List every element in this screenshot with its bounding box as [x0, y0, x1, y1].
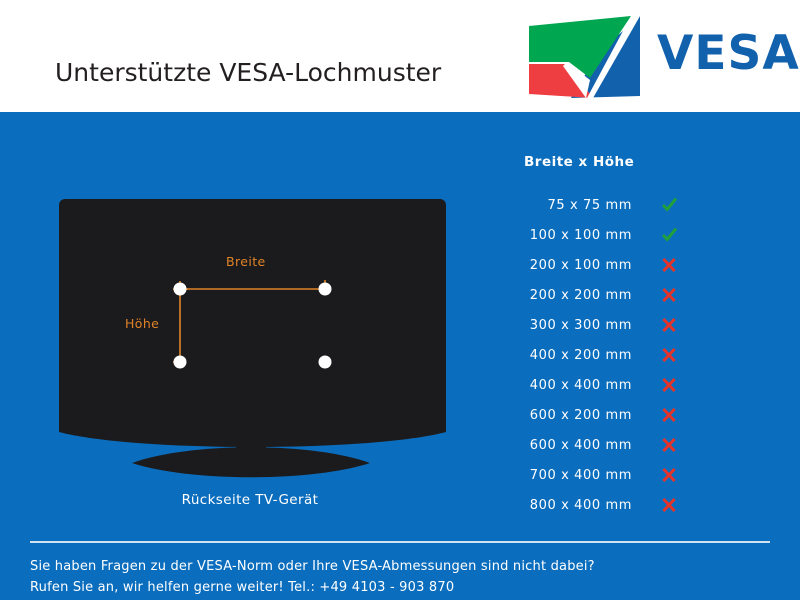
cross-icon — [632, 347, 689, 364]
spec-table-header: Breite x Höhe — [500, 154, 715, 170]
spec-row: 400 x 200 mm — [500, 340, 715, 370]
footer-line-2: Rufen Sie an, wir helfen gerne weiter! T… — [30, 577, 780, 598]
spec-row: 600 x 200 mm — [500, 400, 715, 430]
height-dimension-label: Höhe — [125, 316, 159, 331]
footer-line-1: Sie haben Fragen zu der VESA-Norm oder I… — [30, 556, 780, 577]
vesa-pattern-table: Breite x Höhe 75 x 75 mm100 x 100 mm200 … — [500, 154, 715, 520]
cross-icon — [632, 317, 689, 334]
hole-top-right — [319, 283, 332, 296]
hole-top-left — [174, 283, 187, 296]
spec-size-label: 75 x 75 mm — [500, 198, 632, 213]
spec-row: 200 x 200 mm — [500, 280, 715, 310]
spec-table-rows: 75 x 75 mm100 x 100 mm200 x 100 mm200 x … — [500, 190, 715, 520]
spec-row: 75 x 75 mm — [500, 190, 715, 220]
spec-size-label: 400 x 200 mm — [500, 348, 632, 363]
spec-size-label: 400 x 400 mm — [500, 378, 632, 393]
tv-diagram-caption: Rückseite TV-Gerät — [40, 492, 460, 508]
spec-row: 600 x 400 mm — [500, 430, 715, 460]
hole-bottom-right — [319, 356, 332, 369]
spec-size-label: 300 x 300 mm — [500, 318, 632, 333]
vesa-logo: VESA — [527, 16, 782, 100]
page-header: Unterstützte VESA-Lochmuster VESA — [0, 0, 800, 112]
cross-icon — [632, 287, 689, 304]
cross-icon — [632, 437, 689, 454]
tv-body-shape — [59, 199, 446, 447]
spec-row: 700 x 400 mm — [500, 460, 715, 490]
spec-size-label: 800 x 400 mm — [500, 498, 632, 513]
spec-row: 400 x 400 mm — [500, 370, 715, 400]
page-title: Unterstützte VESA-Lochmuster — [55, 58, 441, 87]
cross-icon — [632, 467, 689, 484]
spec-row: 300 x 300 mm — [500, 310, 715, 340]
cross-icon — [632, 497, 689, 514]
width-dimension-label: Breite — [226, 254, 266, 269]
vesa-checkmark-logo-icon — [527, 16, 640, 100]
cross-icon — [632, 257, 689, 274]
cross-icon — [632, 377, 689, 394]
spec-row: 100 x 100 mm — [500, 220, 715, 250]
spec-size-label: 200 x 100 mm — [500, 258, 632, 273]
check-icon — [632, 196, 689, 214]
cross-icon — [632, 407, 689, 424]
vesa-info-page: Unterstützte VESA-Lochmuster VESA — [0, 0, 800, 600]
spec-size-label: 600 x 200 mm — [500, 408, 632, 423]
spec-size-label: 100 x 100 mm — [500, 228, 632, 243]
spec-size-label: 700 x 400 mm — [500, 468, 632, 483]
tv-illustration-svg — [40, 192, 460, 492]
footer-divider — [30, 541, 770, 543]
footer-contact-text: Sie haben Fragen zu der VESA-Norm oder I… — [30, 556, 780, 598]
tv-base-shape — [132, 447, 370, 477]
spec-size-label: 600 x 400 mm — [500, 438, 632, 453]
main-blue-panel: Breite Höhe Rückseite TV-Gerät Breite x … — [0, 112, 800, 600]
tv-rear-diagram: Breite Höhe Rückseite TV-Gerät — [40, 192, 460, 522]
check-icon — [632, 226, 689, 244]
spec-size-label: 200 x 200 mm — [500, 288, 632, 303]
spec-row: 200 x 100 mm — [500, 250, 715, 280]
spec-row: 800 x 400 mm — [500, 490, 715, 520]
vesa-wordmark: VESA — [657, 30, 800, 77]
hole-bottom-left — [174, 356, 187, 369]
